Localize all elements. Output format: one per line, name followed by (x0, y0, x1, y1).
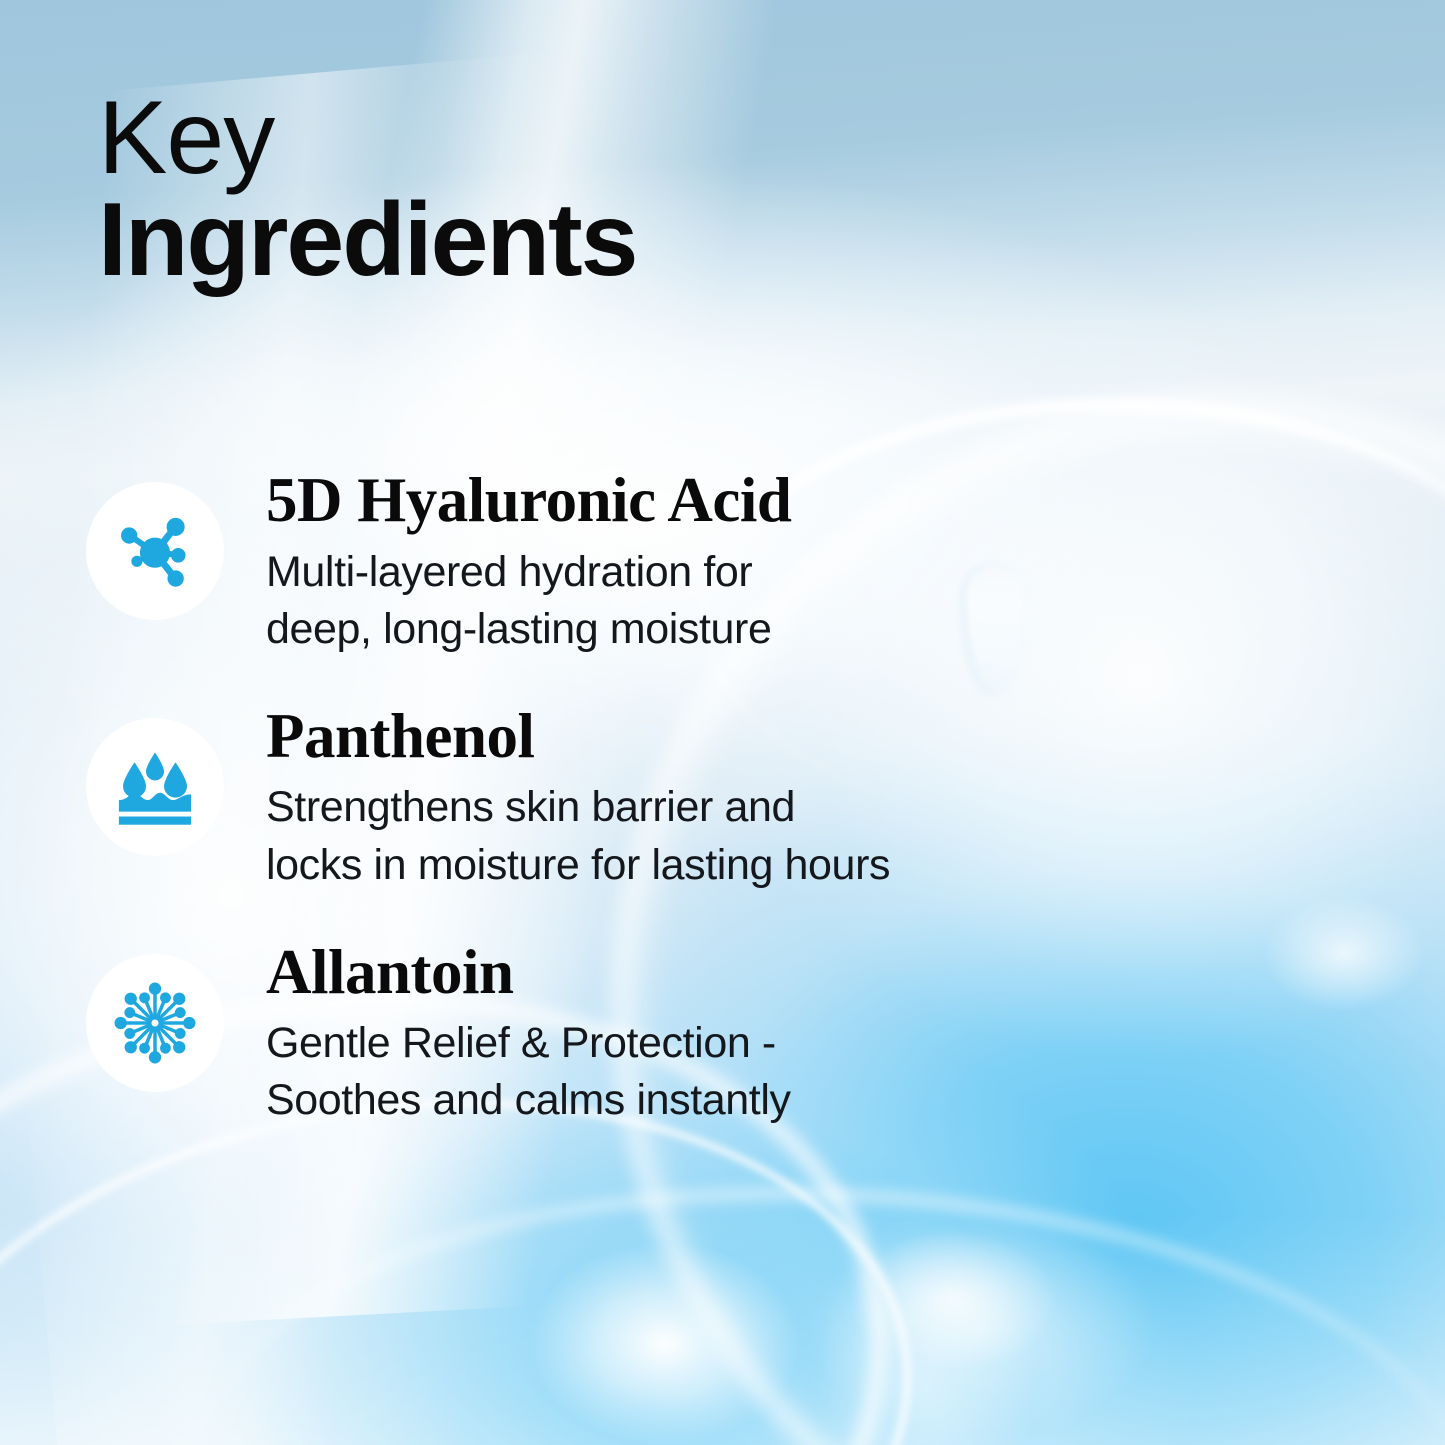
ingredient-item: Allantoin Gentle Relief & Protection - S… (0, 938, 1445, 1130)
page-title: Key Ingredients (98, 84, 637, 294)
starburst-icon (86, 954, 224, 1092)
molecule-icon (86, 482, 224, 620)
page-title-line-2: Ingredients (98, 186, 637, 294)
ingredient-title: Panthenol (266, 704, 890, 770)
ingredient-text: 5D Hyaluronic Acid Multi-layered hydrati… (266, 466, 791, 658)
water-droplets-icon (86, 718, 224, 856)
ingredient-description: Gentle Relief & Protection - Soothes and… (266, 1015, 791, 1129)
key-ingredients-infographic: Key Ingredients (0, 0, 1445, 1445)
ingredient-title: Allantoin (266, 940, 791, 1006)
page-title-line-1: Key (98, 84, 637, 192)
ingredient-text: Allantoin Gentle Relief & Protection - S… (266, 938, 791, 1130)
ingredient-title: 5D Hyaluronic Acid (266, 468, 791, 534)
ingredient-item: 5D Hyaluronic Acid Multi-layered hydrati… (0, 466, 1445, 658)
ingredient-item: Panthenol Strengthens skin barrier and l… (0, 702, 1445, 894)
ingredient-list: 5D Hyaluronic Acid Multi-layered hydrati… (0, 466, 1445, 1174)
ingredient-description: Strengthens skin barrier and locks in mo… (266, 779, 890, 893)
content-overlay: Key Ingredients (0, 0, 1445, 1445)
ingredient-text: Panthenol Strengthens skin barrier and l… (266, 702, 890, 894)
ingredient-description: Multi-layered hydration for deep, long-l… (266, 544, 791, 658)
